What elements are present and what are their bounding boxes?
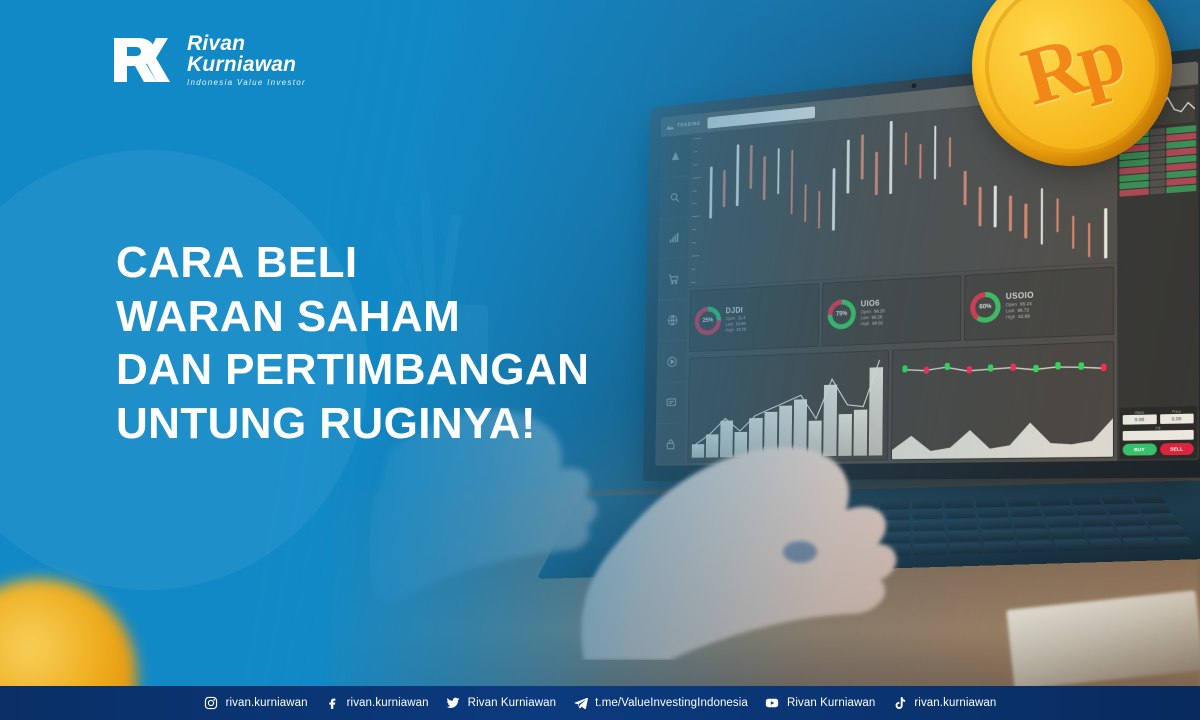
gauge-ring: 60% — [970, 291, 1001, 323]
candle — [927, 116, 942, 269]
price-axis — [691, 138, 702, 284]
social-handle: t.me/ValueInvestingIndonesia — [595, 697, 748, 709]
candle — [855, 123, 870, 273]
webcam — [911, 83, 916, 88]
headline-line-3: DAN PERTIMBANGAN — [116, 343, 589, 397]
youtube-icon — [765, 696, 780, 711]
social-handle: rivan.kurniawan — [226, 697, 308, 709]
candle — [703, 138, 718, 283]
signal-marker — [1033, 365, 1038, 372]
brand-name-line1: Rivan — [187, 33, 306, 54]
candle — [812, 127, 827, 276]
buy-button[interactable]: BUY — [1123, 443, 1157, 455]
candle — [757, 133, 772, 280]
candle — [771, 131, 786, 278]
candle — [898, 119, 913, 271]
candle — [784, 130, 799, 278]
candle — [957, 113, 972, 267]
candle — [913, 117, 928, 270]
brand-name-line2: Kurniawan — [187, 54, 306, 76]
social-handle: Rivan Kurniawan — [468, 697, 556, 709]
candle — [717, 137, 732, 282]
social-link[interactable]: Rivan Kurniawan — [446, 696, 556, 711]
social-link[interactable]: rivan.kurniawan — [892, 696, 996, 711]
candle — [730, 135, 745, 281]
signal-marker — [1078, 363, 1083, 371]
signal-marker — [1011, 363, 1016, 370]
value-input[interactable]: 0.00 — [1123, 414, 1157, 424]
brand-wordmark: Rivan Kurniawan Indonesia Value Investor — [187, 33, 306, 87]
order-book[interactable] — [1119, 125, 1197, 405]
rupiah-symbol: Rp — [1012, 7, 1131, 124]
tiktok-icon — [892, 696, 907, 711]
sell-label: SELL — [1170, 446, 1183, 452]
social-link[interactable]: t.me/ValueInvestingIndonesia — [573, 696, 748, 711]
social-link[interactable]: rivan.kurniawan — [325, 696, 429, 711]
rk-monogram-icon — [112, 34, 178, 86]
social-handle: Rivan Kurniawan — [787, 697, 875, 709]
social-link[interactable]: rivan.kurniawan — [204, 696, 308, 711]
banner-stage: TRADING — [0, 0, 1200, 720]
bar-chart-icon[interactable] — [659, 217, 689, 260]
candle — [798, 129, 813, 277]
twitter-icon — [446, 696, 461, 711]
headline-line-1: CARA BELI — [116, 236, 589, 290]
social-footer-bar: rivan.kurniawanrivan.kurniawanRivan Kurn… — [0, 686, 1200, 720]
headline-line-2: WARAN SAHAM — [116, 290, 589, 344]
social-handle: rivan.kurniawan — [347, 697, 429, 709]
candle — [840, 125, 855, 275]
facebook-icon — [325, 696, 340, 711]
social-handle: rivan.kurniawan — [914, 697, 996, 709]
brand-logo[interactable]: Rivan Kurniawan Indonesia Value Investor — [112, 33, 306, 87]
order-entry-form: Value 0.00 Price 0.00 — [1119, 406, 1197, 459]
candle — [826, 126, 841, 275]
price-input[interactable]: 0.00 — [1160, 414, 1194, 424]
bell-icon[interactable] — [660, 135, 690, 178]
candle — [942, 115, 957, 269]
fill-field[interactable]: Fill — [1123, 426, 1194, 441]
instagram-icon — [204, 696, 219, 711]
mountain-logo-icon — [666, 122, 675, 130]
app-brand-label: TRADING — [677, 121, 700, 129]
candle — [869, 122, 884, 273]
signal-marker — [1101, 364, 1106, 372]
buy-label: BUY — [1134, 447, 1145, 452]
candle — [883, 120, 898, 271]
search-icon[interactable] — [659, 176, 689, 219]
candle — [743, 134, 758, 280]
brand-tagline: Indonesia Value Investor — [187, 78, 306, 87]
page-title: CARA BELI WARAN SAHAM DAN PERTIMBANGAN U… — [116, 236, 589, 451]
price-field[interactable]: Price 0.00 — [1160, 409, 1194, 424]
telegram-icon — [573, 696, 588, 711]
value-field[interactable]: Value 0.00 — [1123, 410, 1157, 425]
gauge-percent: 60% — [970, 291, 1001, 323]
cart-icon[interactable] — [658, 258, 688, 301]
fill-input[interactable] — [1123, 430, 1194, 441]
gauge-ring: 75% — [827, 299, 856, 330]
gauge-percent: 75% — [827, 299, 856, 330]
app-brand: TRADING — [666, 120, 700, 131]
candle — [973, 112, 988, 267]
signal-marker — [1055, 363, 1060, 370]
headline-line-4: UNTUNG RUGINYA! — [116, 397, 589, 451]
sell-button[interactable]: SELL — [1160, 443, 1194, 455]
social-link[interactable]: Rivan Kurniawan — [765, 696, 875, 711]
